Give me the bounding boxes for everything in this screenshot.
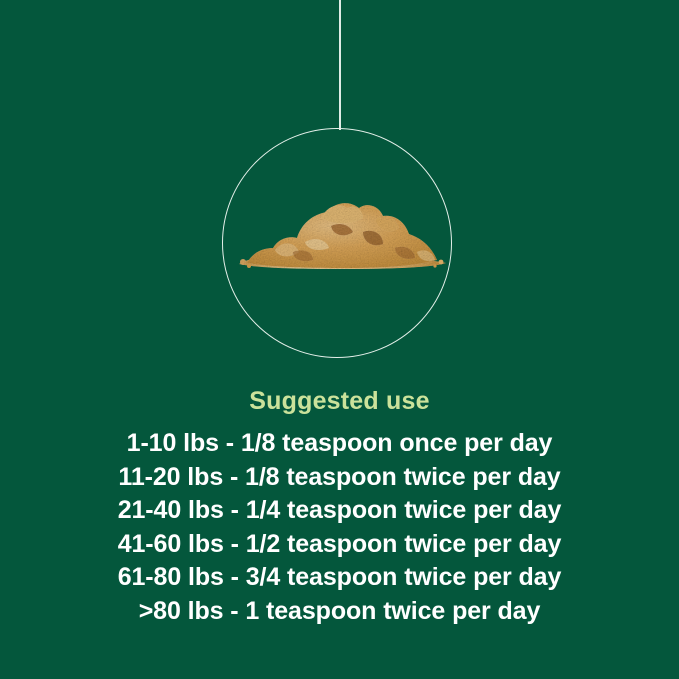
dosage-line: >80 lbs - 1 teaspoon twice per day: [0, 595, 679, 629]
dosage-list: 1-10 lbs - 1/8 teaspoon once per day 11-…: [0, 427, 679, 628]
dosage-line: 41-60 lbs - 1/2 teaspoon twice per day: [0, 528, 679, 562]
suggested-use-panel: Suggested use 1-10 lbs - 1/8 teaspoon on…: [0, 0, 679, 679]
suggested-use-heading: Suggested use: [0, 386, 679, 416]
dosage-line: 21-40 lbs - 1/4 teaspoon twice per day: [0, 494, 679, 528]
dosage-line: 61-80 lbs - 3/4 teaspoon twice per day: [0, 561, 679, 595]
pointer-stem-line: [339, 0, 341, 130]
dosage-line: 1-10 lbs - 1/8 teaspoon once per day: [0, 427, 679, 461]
suggested-use-text-block: Suggested use 1-10 lbs - 1/8 teaspoon on…: [0, 386, 679, 628]
powder-mound-image: [235, 190, 450, 272]
dosage-line: 11-20 lbs - 1/8 teaspoon twice per day: [0, 461, 679, 495]
